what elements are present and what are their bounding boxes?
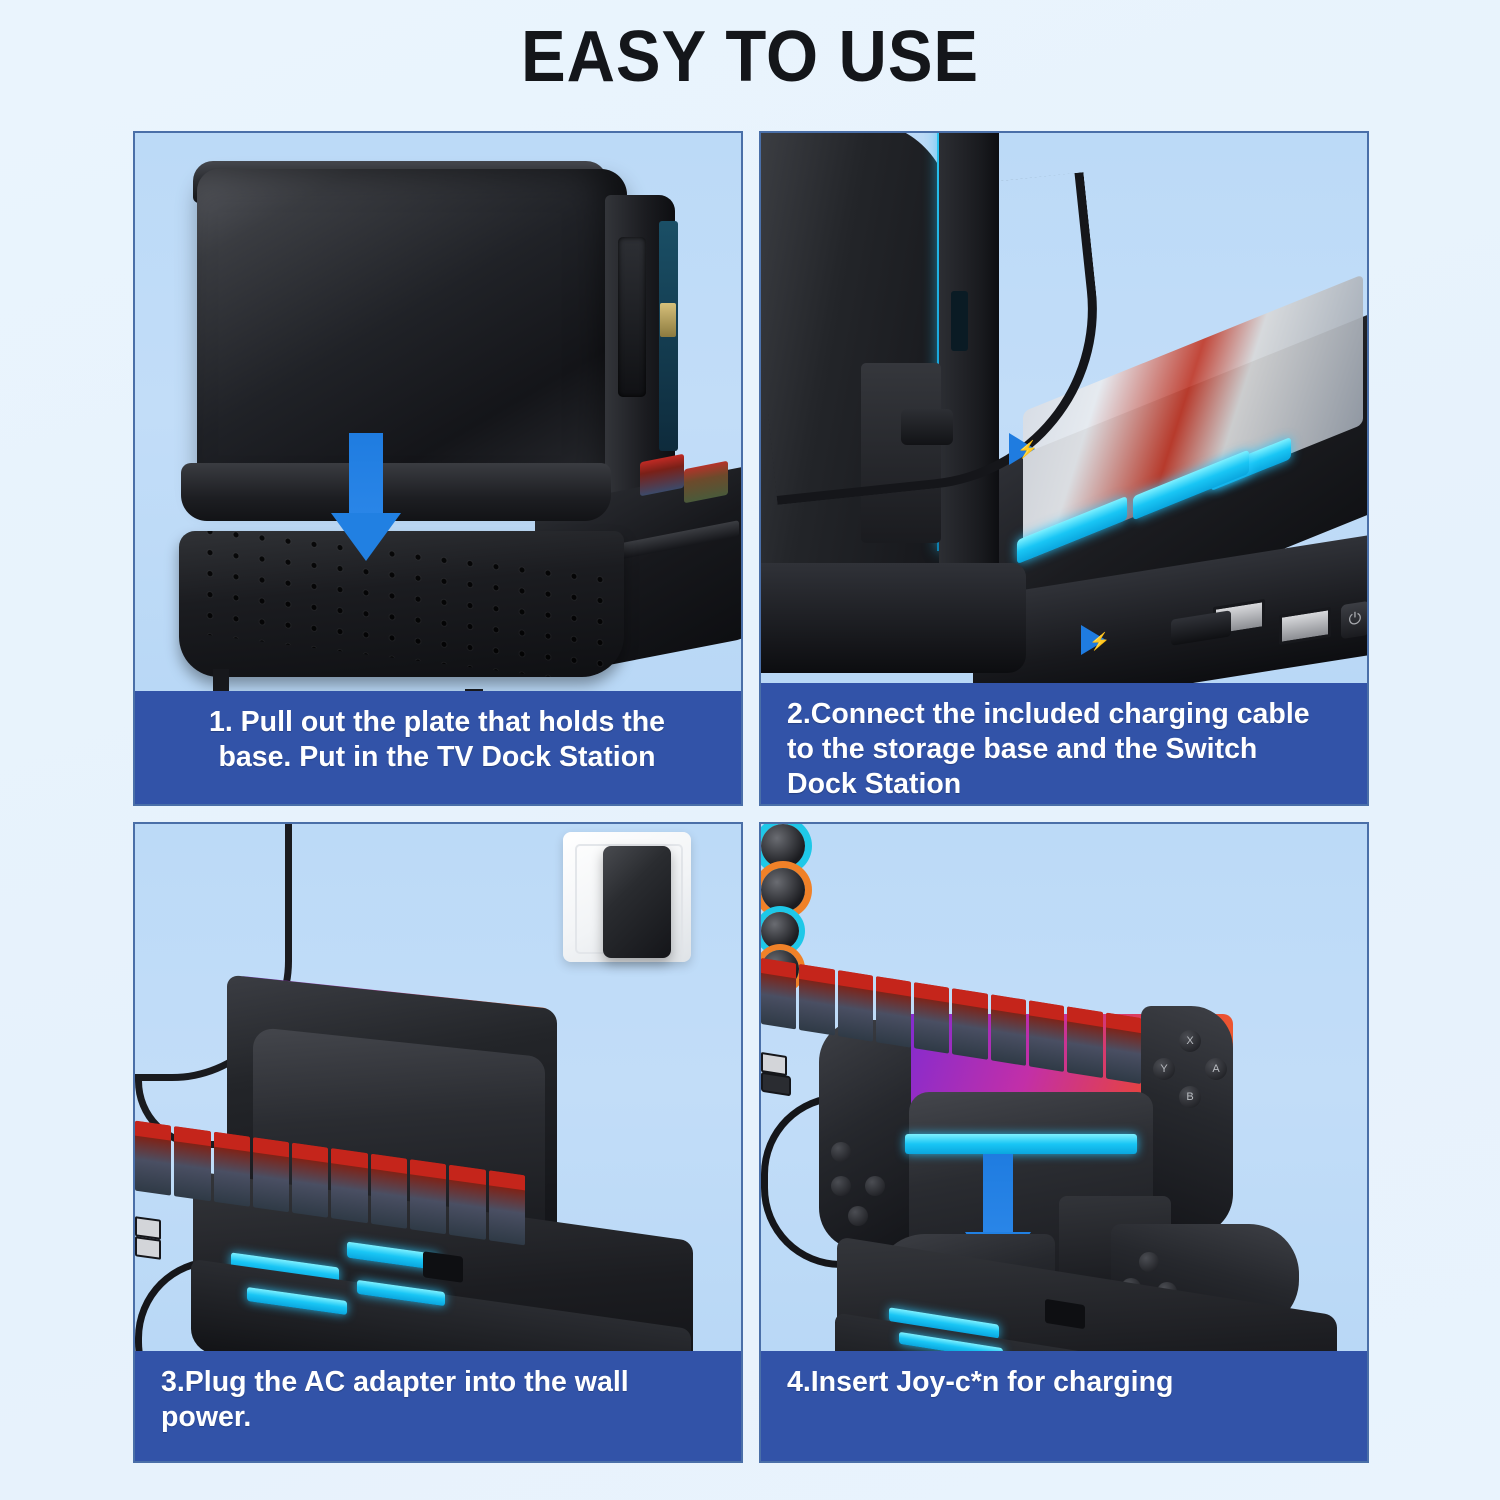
step-card-3: 3.Plug the AC adapter into the wall powe… — [133, 822, 743, 1463]
game-cartridge — [914, 982, 949, 1054]
step-3-illustration — [135, 824, 741, 1351]
step-card-1: 1. Pull out the plate that holds the bas… — [133, 131, 743, 806]
dock-foot — [761, 563, 1026, 673]
game-cartridge — [761, 958, 796, 1030]
power-button[interactable]: ⏻ — [1341, 601, 1367, 639]
tv-dock-station — [197, 169, 627, 499]
game-cartridge — [214, 1132, 250, 1207]
dpad-down-button — [848, 1206, 868, 1226]
arrow-down-icon — [331, 433, 401, 563]
a-button: A — [1205, 1058, 1227, 1080]
game-cartridge — [991, 994, 1026, 1066]
dpad-right-button — [865, 1176, 885, 1196]
step-2-caption: 2.Connect the included charging cable to… — [761, 683, 1367, 804]
caption-line: 1. Pull out the plate that holds the — [149, 705, 725, 740]
game-cartridge — [135, 1121, 171, 1196]
step-card-4: X Y A B — [759, 822, 1369, 1463]
perforated-pull-out-plate — [179, 531, 624, 677]
joycon-analog-stick — [761, 868, 805, 912]
game-cartridge — [371, 1154, 407, 1229]
usb-ports — [135, 1236, 161, 1260]
y-button: Y — [1153, 1058, 1175, 1080]
plate-tab — [213, 669, 229, 691]
cyan-led-slot — [905, 1134, 1137, 1154]
game-cartridge — [410, 1159, 446, 1234]
game-cartridge — [449, 1165, 485, 1240]
caption-line: 2.Connect the included charging cable — [787, 697, 1351, 732]
lightning-bolt-icon: ⚡ — [1017, 441, 1038, 458]
step-4-illustration: X Y A B — [761, 824, 1367, 1351]
dock-connector-pins — [660, 303, 676, 337]
dpad-up-button — [831, 1142, 851, 1162]
game-cartridge — [876, 976, 911, 1048]
plate-perforations — [197, 531, 612, 677]
joycon-analog-stick — [761, 912, 799, 950]
dock-vent — [618, 237, 646, 397]
step-4-caption: 4.Insert Joy-c*n for charging — [761, 1351, 1367, 1461]
x-button — [1139, 1252, 1159, 1272]
plate-tab — [465, 689, 483, 691]
game-cartridge — [292, 1143, 328, 1218]
game-cartridge — [838, 970, 873, 1042]
base-logo — [423, 1251, 463, 1283]
caption-line: to the storage base and the Switch — [787, 732, 1351, 767]
b-button: B — [1179, 1086, 1201, 1108]
game-cartridge — [1106, 1012, 1141, 1084]
joycon-analog-stick — [761, 824, 805, 868]
caption-line: base. Put in the TV Dock Station — [149, 740, 725, 775]
game-cartridge — [799, 964, 834, 1036]
game-cartridge — [331, 1148, 367, 1223]
game-cartridge — [174, 1126, 210, 1201]
step-card-2: ⏻ ⚡ ⚡ 2.Connect the included charging ca… — [759, 131, 1369, 806]
usb-ports — [761, 1072, 791, 1097]
dpad-left-button — [831, 1176, 851, 1196]
step-1-caption: 1. Pull out the plate that holds the bas… — [135, 691, 741, 804]
caption-line: Dock Station — [787, 767, 1351, 802]
lightning-bolt-icon: ⚡ — [1089, 633, 1110, 650]
step-2-illustration: ⏻ ⚡ ⚡ — [761, 133, 1367, 683]
game-cartridge — [489, 1170, 525, 1245]
ac-adapter — [603, 846, 671, 958]
game-cartridge — [253, 1137, 289, 1212]
caption-line: 3.Plug the AC adapter into the wall — [161, 1365, 725, 1400]
game-cartridge — [952, 988, 987, 1060]
x-button: X — [1179, 1030, 1201, 1052]
product-instruction-infographic: EASY TO USE — [0, 0, 1500, 1500]
step-3-caption: 3.Plug the AC adapter into the wall powe… — [135, 1351, 741, 1461]
caption-line: power. — [161, 1400, 725, 1435]
caption-line: 4.Insert Joy-c*n for charging — [787, 1365, 1351, 1400]
game-cartridge — [1029, 1000, 1064, 1072]
step-1-illustration — [135, 133, 741, 691]
page-title: EASY TO USE — [53, 16, 1448, 98]
steps-grid: 1. Pull out the plate that holds the bas… — [133, 131, 1369, 1463]
game-cartridge — [1067, 1006, 1102, 1078]
